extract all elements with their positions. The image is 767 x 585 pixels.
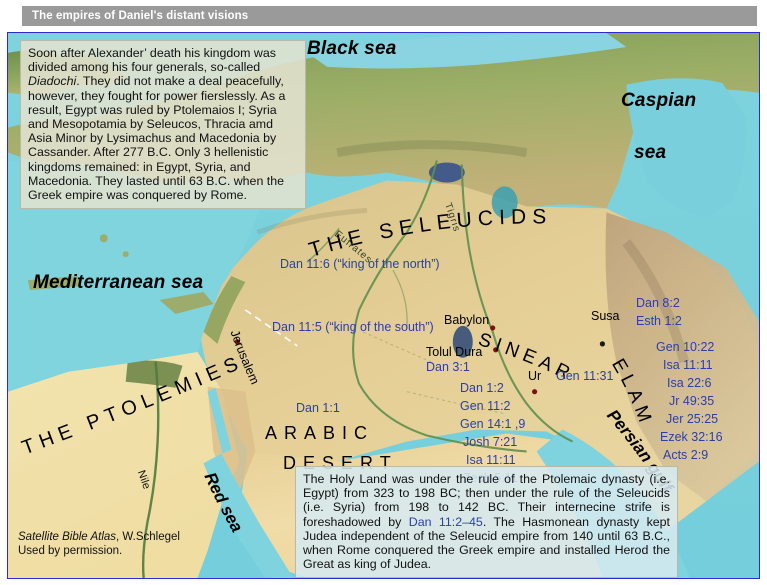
credit-line-2: Used by permission.: [18, 545, 180, 559]
credit-line-1: Satellite Bible Atlas, W.Schlegel: [18, 531, 180, 545]
island-aegean-1: [100, 234, 108, 242]
box-top-text-2: . They did not make a deal peacefully, h…: [28, 74, 285, 202]
info-box-holy-land: The Holy Land was under the rule of the …: [295, 466, 678, 578]
box-top-emphasis: Diadochi: [28, 74, 76, 88]
credit-author: , W.Schlegel: [116, 531, 180, 543]
map-credit: Satellite Bible Atlas, W.Schlegel Used b…: [18, 531, 180, 558]
box-top-text-1: Soon after Alexander’ death his kingdom …: [28, 46, 276, 74]
city-dot-susa: [600, 341, 605, 346]
lake-marsh: [453, 326, 473, 358]
city-dot-tolul-dura: [490, 325, 495, 330]
page-title: The empires of Daniel's distant visions: [22, 10, 248, 22]
window-titlebar: The empires of Daniel's distant visions: [22, 6, 757, 26]
island-aegean-2: [123, 251, 129, 257]
credit-atlas-title: Satellite Bible Atlas: [18, 531, 116, 543]
city-dot-ur: [532, 389, 537, 394]
box-bottom-ref-dan-11-2-45: Dan 11:2–45: [409, 515, 483, 529]
page-root: The empires of Daniel's distant visions: [0, 0, 767, 585]
info-box-diadochi: Soon after Alexander’ death his kingdom …: [20, 40, 306, 209]
map-canvas[interactable]: THE SELEUCIDS THE PTOLEMIES SINEAR ELAM …: [7, 32, 760, 579]
